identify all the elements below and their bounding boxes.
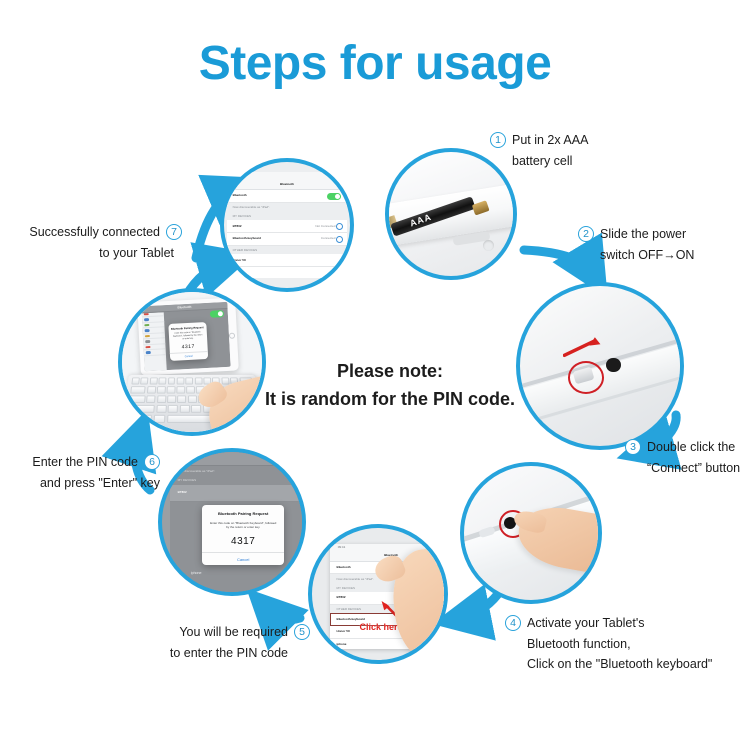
home-button[interactable] bbox=[229, 333, 235, 339]
device-name-iphone: iphone bbox=[191, 571, 202, 575]
note-line-2: It is random for the PIN code. bbox=[225, 386, 555, 414]
photo-step-3-connect-press bbox=[460, 462, 602, 604]
info-icon[interactable] bbox=[336, 223, 343, 230]
key[interactable] bbox=[187, 395, 196, 403]
device-status: Not Connected bbox=[315, 224, 335, 228]
device-row[interactable]: BT802 Not Connected bbox=[227, 220, 348, 233]
battery-compartment bbox=[389, 184, 513, 247]
caption-step-7: Successfully connected7 to your Tablet bbox=[0, 222, 182, 263]
caption-line: 3Double click the bbox=[625, 437, 740, 458]
bluetooth-settings-screen: 09:41 97% Bluetooth Bluetooth Now discov… bbox=[227, 172, 348, 278]
device-name: Honor 5X bbox=[233, 258, 246, 262]
bluetooth-toggle[interactable] bbox=[209, 311, 223, 319]
red-highlight-circle bbox=[568, 361, 604, 394]
key[interactable] bbox=[158, 377, 166, 384]
caption-line: 1Put in 2x AAA bbox=[490, 130, 588, 151]
caption-step-4: 4Activate your Tablet's Bluetooth functi… bbox=[505, 613, 712, 675]
caption-step-3: 3Double click the “Connect” button bbox=[625, 437, 740, 478]
key[interactable] bbox=[131, 377, 140, 384]
key-capslock[interactable] bbox=[129, 395, 146, 403]
bluetooth-toggle-row[interactable]: Bluetooth bbox=[227, 190, 348, 203]
nav-title: Bluetooth bbox=[191, 455, 302, 459]
poster-canvas: Steps for usage bbox=[0, 0, 750, 750]
pairing-request-dialog: Bluetooth Pairing Request Enter this cod… bbox=[168, 323, 208, 362]
settings-sidebar[interactable] bbox=[141, 306, 167, 372]
key[interactable] bbox=[156, 386, 165, 394]
device-name: iphone bbox=[233, 270, 243, 274]
device-name: Honor 5X bbox=[337, 629, 350, 633]
key[interactable] bbox=[186, 386, 195, 394]
caption-line: switch OFF→ON bbox=[578, 245, 694, 266]
aaa-battery bbox=[390, 196, 476, 236]
discoverable-note: Now discoverable as "iPad". bbox=[170, 466, 302, 476]
caption-line: You will be required5 bbox=[0, 622, 310, 643]
status-time: 09:41 bbox=[338, 545, 346, 549]
caption-line: Enter the PIN code6 bbox=[0, 452, 160, 473]
cancel-button[interactable]: Cancel bbox=[169, 352, 207, 360]
device-row[interactable]: iphone bbox=[227, 267, 348, 278]
tablet-device: 09:41 97% Bluetooth Bluetooth Now discov… bbox=[227, 172, 348, 278]
key[interactable] bbox=[179, 404, 189, 412]
status-bar: 09:41 97% bbox=[227, 172, 348, 179]
caption-line: 4Activate your Tablet's bbox=[505, 613, 712, 634]
note-line-1: Please note: bbox=[337, 361, 443, 381]
info-icon[interactable] bbox=[336, 236, 343, 243]
caption-line: to enter the PIN code bbox=[0, 643, 310, 664]
pairing-pin: 4317 bbox=[202, 536, 284, 547]
list-item[interactable] bbox=[143, 350, 166, 357]
dialog-body: Enter this code on "Bluetooth Keyboard",… bbox=[209, 521, 278, 530]
bluetooth-toggle[interactable] bbox=[327, 193, 341, 200]
center-note: Please note: It is random for the PIN co… bbox=[225, 358, 555, 414]
screw-hole bbox=[483, 240, 494, 251]
key[interactable] bbox=[168, 404, 179, 412]
key[interactable] bbox=[149, 377, 157, 384]
photo-step-5-pairing-request: Bluetooth Now discoverable as "iPad". MY… bbox=[158, 448, 306, 596]
cancel-button[interactable]: Cancel bbox=[202, 552, 284, 562]
my-devices-header: MY DEVICES bbox=[227, 211, 348, 220]
key[interactable] bbox=[176, 377, 184, 384]
step-badge-4: 4 bbox=[505, 615, 521, 631]
caption-line: battery cell bbox=[490, 151, 588, 172]
key[interactable] bbox=[191, 404, 201, 412]
device-name: BT802 bbox=[233, 224, 242, 228]
key-ctrl[interactable] bbox=[140, 414, 153, 423]
step-badge-1: 1 bbox=[490, 132, 506, 148]
photo-step-7-connected: 09:41 97% Bluetooth Bluetooth Now discov… bbox=[220, 158, 354, 292]
caption-line: Click on the "Bluetooth keyboard" bbox=[505, 654, 712, 675]
step-badge-7: 7 bbox=[166, 224, 182, 240]
discoverable-note: Now discoverable as "iPad". bbox=[227, 203, 348, 212]
key[interactable] bbox=[176, 386, 185, 394]
key[interactable] bbox=[146, 395, 156, 403]
key[interactable] bbox=[167, 395, 176, 403]
key[interactable] bbox=[156, 404, 167, 412]
red-arrow-icon bbox=[563, 334, 605, 363]
step-badge-6: 6 bbox=[144, 454, 160, 470]
device-status: Connected bbox=[321, 236, 336, 240]
status-time: 09:41 bbox=[234, 173, 242, 177]
key[interactable] bbox=[185, 377, 193, 384]
caption-line: to your Tablet bbox=[0, 243, 182, 264]
dialog-body: Enter this code on "Bluetooth Keyboard",… bbox=[171, 332, 203, 343]
caption-line: Successfully connected7 bbox=[0, 222, 182, 243]
other-devices-header: OTHER DEVICES bbox=[227, 246, 348, 255]
step-badge-3: 3 bbox=[625, 439, 641, 455]
caption-step-5: You will be required5 to enter the PIN c… bbox=[0, 622, 310, 663]
caption-step-1: 1Put in 2x AAA battery cell bbox=[490, 130, 588, 171]
caption-step-2: 2Slide the power switch OFF→ON bbox=[578, 224, 694, 265]
dialog-title: Bluetooth Pairing Request bbox=[202, 511, 284, 516]
bluetooth-label: Bluetooth bbox=[233, 193, 247, 197]
tablet-screen: Bluetooth Bluetooth Pairing Request Ente… bbox=[141, 302, 230, 371]
device-name: iphone bbox=[337, 642, 347, 646]
tablet-device: Bluetooth Bluetooth Pairing Request Ente… bbox=[137, 298, 239, 376]
my-devices-header: MY DEVICES bbox=[170, 475, 302, 485]
bluetooth-settings-screen-dimmed: Bluetooth Now discoverable as "iPad". MY… bbox=[170, 452, 302, 592]
step-badge-5: 5 bbox=[294, 624, 310, 640]
key[interactable] bbox=[140, 377, 148, 384]
tablet-device: Bluetooth Now discoverable as "iPad". MY… bbox=[170, 452, 302, 592]
status-battery: 97% bbox=[335, 173, 341, 177]
device-row-bluetooth-keyboard[interactable]: Bluetooth-keyboard Connected bbox=[227, 233, 348, 246]
nav-title: Bluetooth bbox=[227, 182, 348, 186]
nav-bar: Bluetooth bbox=[227, 179, 348, 190]
device-name: Bluetooth-keyboard bbox=[233, 236, 261, 240]
caption-line: 2Slide the power bbox=[578, 224, 694, 245]
nav-bar: Bluetooth bbox=[170, 452, 302, 466]
device-name: BT802 bbox=[178, 490, 187, 494]
indicator-led bbox=[606, 358, 620, 372]
key-fn[interactable] bbox=[126, 414, 139, 423]
device-row[interactable]: BT802 bbox=[170, 485, 302, 501]
device-name: Bluetooth-keyboard bbox=[337, 617, 365, 621]
key[interactable] bbox=[146, 386, 155, 394]
key[interactable] bbox=[177, 395, 186, 403]
step-badge-2: 2 bbox=[578, 226, 594, 242]
caption-step-6: Enter the PIN code6 and press "Enter" ke… bbox=[0, 452, 160, 493]
bluetooth-settings-screen-dimmed: Bluetooth Bluetooth Pairing Request Ente… bbox=[141, 302, 230, 371]
page-title: Steps for usage bbox=[0, 40, 750, 88]
key[interactable] bbox=[167, 377, 175, 384]
key[interactable] bbox=[166, 386, 175, 394]
pairing-pin: 4317 bbox=[169, 344, 207, 352]
bluetooth-label: Bluetooth bbox=[337, 565, 351, 569]
device-name: BT802 bbox=[337, 595, 346, 599]
caption-line: “Connect” button bbox=[625, 458, 740, 479]
key-tab[interactable] bbox=[130, 386, 146, 394]
key-alt[interactable] bbox=[153, 414, 165, 423]
pairing-request-dialog: Bluetooth Pairing Request Enter this cod… bbox=[202, 505, 284, 565]
photo-step-4-bluetooth-list: 09:41 97% Bluetooth Bluetooth Now discov… bbox=[308, 524, 448, 664]
key[interactable] bbox=[194, 377, 202, 384]
key[interactable] bbox=[156, 395, 165, 403]
device-row[interactable]: Honor 5X bbox=[227, 254, 348, 267]
caption-line: Bluetooth function, bbox=[505, 634, 712, 655]
key-shift[interactable] bbox=[127, 404, 154, 412]
caption-line: and press "Enter" key bbox=[0, 473, 160, 494]
